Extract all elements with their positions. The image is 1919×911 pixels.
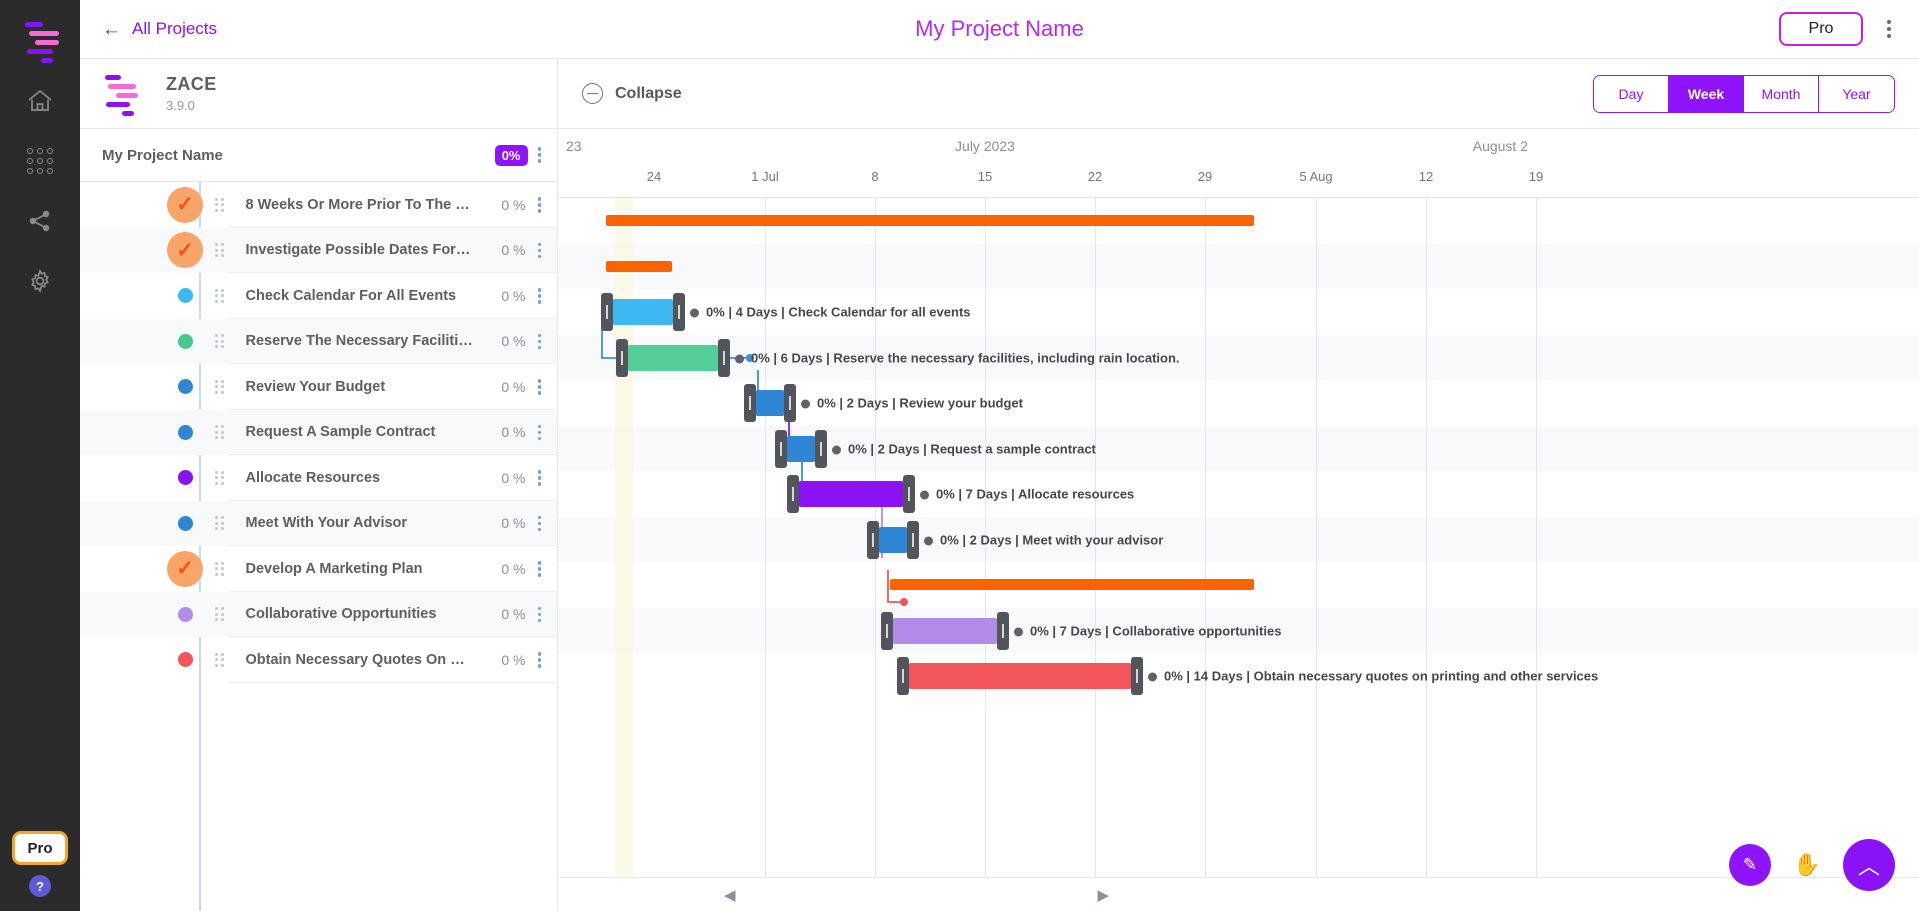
task-progress-label: 0 %	[501, 333, 525, 349]
task-progress-label: 0 %	[501, 242, 525, 258]
task-row[interactable]: Allocate Resources0 %	[80, 455, 557, 501]
gantt-task-bar[interactable]: 0% | 6 Days | Reserve the necessary faci…	[627, 345, 719, 371]
timeline-day-label: 12	[1419, 169, 1433, 184]
pro-upgrade-button[interactable]: Pro	[1779, 12, 1863, 46]
task-name-label: Develop A Marketing Plan	[246, 561, 474, 577]
task-drag-handle-icon[interactable]	[215, 562, 224, 576]
home-icon[interactable]	[17, 78, 63, 124]
gantt-gridline	[1536, 198, 1537, 911]
task-row-kebab-icon[interactable]	[538, 652, 542, 668]
bar-resize-handle-right[interactable]	[784, 384, 796, 422]
bar-resize-handle-left[interactable]	[897, 657, 909, 695]
task-drag-handle-icon[interactable]	[215, 334, 224, 348]
task-name-label: Allocate Resources	[246, 470, 474, 486]
task-row[interactable]: Obtain Necessary Quotes On Printin...0 %	[80, 637, 557, 683]
bar-resize-handle-right[interactable]	[815, 430, 827, 468]
gantt-toolbar: Collapse DayWeekMonthYear	[558, 59, 1919, 129]
task-name-label: Investigate Possible Dates For The ...	[246, 242, 474, 258]
all-projects-back-link[interactable]: ← All Projects	[102, 19, 217, 39]
scroll-up-fab[interactable]: ︿	[1843, 839, 1895, 891]
bar-label-text: 0% | 2 Days | Meet with your advisor	[940, 532, 1163, 547]
gantt-gridline	[1316, 198, 1317, 911]
timeline-day-label: 8	[871, 169, 878, 184]
timeline-month-label: 23	[566, 138, 582, 154]
gantt-app: Pro ? ← All Projects My Project Name Pro	[0, 0, 1919, 911]
timeline-day-label: 5 Aug	[1299, 169, 1332, 184]
task-row[interactable]: Investigate Possible Dates For The ...0 …	[80, 228, 557, 274]
gantt-task-bar[interactable]: 0% | 2 Days | Request a sample contract	[786, 436, 816, 462]
task-status-dot-icon[interactable]	[178, 516, 193, 531]
task-complete-check-icon[interactable]	[167, 232, 203, 268]
gantt-bar-label: 0% | 2 Days | Review your budget	[801, 396, 1023, 411]
pro-rail-button[interactable]: Pro	[12, 831, 68, 865]
timescale-week-button[interactable]: Week	[1669, 76, 1744, 112]
gantt-summary-bar[interactable]	[606, 261, 672, 272]
collapse-button[interactable]: Collapse	[582, 83, 682, 104]
task-row[interactable]: Develop A Marketing Plan0 %	[80, 546, 557, 592]
timescale-toggle-group[interactable]: DayWeekMonthYear	[1593, 75, 1895, 113]
zace-logo-icon	[102, 73, 146, 115]
gantt-grid[interactable]: 0% | 4 Days | Check Calendar for all eve…	[558, 198, 1919, 911]
gantt-task-bar[interactable]: 0% | 2 Days | Meet with your advisor	[878, 527, 908, 553]
task-row-kebab-icon[interactable]	[538, 425, 542, 441]
task-name-label: Obtain Necessary Quotes On Printin...	[246, 652, 474, 668]
bar-label-text: 0% | 4 Days | Check Calendar for all eve…	[706, 305, 971, 320]
collapse-minus-icon	[582, 83, 603, 104]
bar-resize-handle-right[interactable]	[907, 521, 919, 559]
bar-resize-handle-left[interactable]	[744, 384, 756, 422]
task-row-kebab-icon[interactable]	[538, 243, 542, 259]
gantt-task-bar[interactable]: 0% | 4 Days | Check Calendar for all eve…	[612, 299, 674, 325]
task-status-dot-icon[interactable]	[178, 652, 193, 667]
task-status-dot-icon[interactable]	[178, 470, 193, 485]
task-drag-handle-icon[interactable]	[215, 380, 224, 394]
task-progress-label: 0 %	[501, 197, 525, 213]
bar-resize-handle-right[interactable]	[903, 475, 915, 513]
back-arrow-icon: ←	[102, 20, 121, 39]
bar-resize-handle-right[interactable]	[718, 339, 730, 377]
gantt-row-band	[558, 471, 1919, 517]
timeline-day-label: 1 Jul	[751, 169, 778, 184]
bar-label-text: 0% | 2 Days | Review your budget	[817, 396, 1023, 411]
timescale-year-button[interactable]: Year	[1819, 76, 1894, 112]
timeline-day-label: 15	[978, 169, 992, 184]
task-progress-label: 0 %	[501, 606, 525, 622]
bar-resize-handle-left[interactable]	[787, 475, 799, 513]
apps-grid-dots	[27, 148, 53, 174]
gantt-bar-label: 0% | 2 Days | Meet with your advisor	[924, 532, 1163, 547]
task-row[interactable]: 8 Weeks Or More Prior To The Event0 %	[80, 182, 557, 228]
task-drag-handle-icon[interactable]	[215, 653, 224, 667]
task-panel: ZACE 3.9.0 My Project Name 0% 8 Weeks Or…	[80, 59, 558, 911]
task-drag-handle-icon[interactable]	[215, 425, 224, 439]
task-status-dot-icon[interactable]	[178, 334, 193, 349]
task-name-label: Collaborative Opportunities	[246, 606, 474, 622]
bar-label-text: 0% | 7 Days | Allocate resources	[936, 487, 1134, 502]
bar-label-text: 0% | 14 Days | Obtain necessary quotes o…	[1164, 669, 1598, 684]
project-progress-badge: 0%	[495, 145, 528, 166]
task-drag-handle-icon[interactable]	[215, 243, 224, 257]
apps-grid-icon[interactable]	[17, 138, 63, 184]
gantt-bar-label: 0% | 6 Days | Reserve the necessary faci…	[735, 350, 1180, 365]
task-row[interactable]: Check Calendar For All Events0 %	[80, 273, 557, 319]
task-complete-check-icon[interactable]	[167, 551, 203, 587]
main-area: ← All Projects My Project Name Pro	[80, 0, 1919, 911]
task-row-divider	[228, 682, 557, 683]
task-progress-label: 0 %	[501, 379, 525, 395]
bar-label-bullet-icon	[735, 354, 744, 363]
bar-label-text: 0% | 6 Days | Reserve the necessary faci…	[751, 350, 1180, 365]
task-list[interactable]: 8 Weeks Or More Prior To The Event0 %Inv…	[80, 182, 557, 911]
more-options-kebab-icon[interactable]	[1879, 16, 1899, 42]
project-header: ZACE 3.9.0	[80, 59, 557, 129]
gantt-task-bar[interactable]: 0% | 7 Days | Collaborative opportunitie…	[892, 618, 998, 644]
task-name-label: Reserve The Necessary Facilities, In...	[246, 333, 474, 349]
bar-resize-handle-left[interactable]	[867, 521, 879, 559]
task-name-label: Review Your Budget	[246, 379, 474, 395]
content-body: ZACE 3.9.0 My Project Name 0% 8 Weeks Or…	[80, 59, 1919, 911]
gantt-task-bar[interactable]: 0% | 2 Days | Review your budget	[755, 390, 785, 416]
floating-action-buttons: ✎ ✋ ︿	[1729, 839, 1895, 891]
bar-label-bullet-icon	[832, 445, 841, 454]
task-row[interactable]: Meet With Your Advisor0 %	[80, 501, 557, 547]
task-row-kebab-icon[interactable]	[538, 607, 542, 623]
bar-label-bullet-icon	[920, 491, 929, 500]
collapse-label: Collapse	[615, 85, 682, 103]
task-drag-handle-icon[interactable]	[215, 516, 224, 530]
task-progress-label: 0 %	[501, 424, 525, 440]
gantt-gridline	[1095, 198, 1096, 911]
bar-label-bullet-icon	[690, 309, 699, 318]
share-icon[interactable]	[17, 198, 63, 244]
gantt-bar-label: 0% | 7 Days | Allocate resources	[920, 487, 1134, 502]
top-bar-actions: Pro	[1779, 12, 1899, 46]
gantt-task-bar[interactable]: 0% | 7 Days | Allocate resources	[798, 481, 904, 507]
task-row-kebab-icon[interactable]	[538, 334, 542, 350]
timeline-month-label: August 2	[1473, 138, 1528, 154]
timeline-day-label: 24	[647, 169, 661, 184]
gantt-gridline	[1205, 198, 1206, 911]
bar-resize-handle-left[interactable]	[601, 293, 613, 331]
page-title: My Project Name	[80, 16, 1919, 42]
task-progress-label: 0 %	[501, 470, 525, 486]
bar-resize-handle-right[interactable]	[1131, 657, 1143, 695]
bar-resize-handle-left[interactable]	[616, 339, 628, 377]
project-summary-row[interactable]: My Project Name 0%	[80, 129, 557, 182]
gantt-bar-label: 0% | 7 Days | Collaborative opportunitie…	[1014, 623, 1281, 638]
task-name-label: Check Calendar For All Events	[246, 288, 474, 304]
task-drag-handle-icon[interactable]	[215, 607, 224, 621]
task-status-dot-icon[interactable]	[178, 607, 193, 622]
task-row[interactable]: Collaborative Opportunities0 %	[80, 592, 557, 638]
horizontal-scrollbar[interactable]: ◀ ▶	[558, 877, 1919, 911]
task-row-kebab-icon[interactable]	[538, 516, 542, 532]
bar-label-bullet-icon	[801, 400, 810, 409]
bar-resize-handle-right[interactable]	[673, 293, 685, 331]
task-row-kebab-icon[interactable]	[538, 470, 542, 486]
task-name-label: Request A Sample Contract	[246, 424, 474, 440]
scroll-right-arrow-icon[interactable]: ▶	[1092, 886, 1116, 904]
left-nav-rail: Pro ?	[0, 0, 80, 911]
task-drag-handle-icon[interactable]	[215, 198, 224, 212]
timescale-day-button[interactable]: Day	[1594, 76, 1669, 112]
bar-resize-handle-right[interactable]	[997, 612, 1009, 650]
task-row[interactable]: Reserve The Necessary Facilities, In...0…	[80, 319, 557, 365]
gantt-gridline	[985, 198, 986, 911]
timeline-day-label: 29	[1198, 169, 1212, 184]
task-row-kebab-icon[interactable]	[538, 197, 542, 213]
gantt-bar-label: 0% | 14 Days | Obtain necessary quotes o…	[1148, 669, 1598, 684]
task-progress-label: 0 %	[501, 288, 525, 304]
task-progress-label: 0 %	[501, 515, 525, 531]
product-version: 3.9.0	[166, 98, 217, 113]
gantt-row-band	[558, 426, 1919, 472]
task-name-label: Meet With Your Advisor	[246, 515, 474, 531]
gantt-task-bar[interactable]: 0% | 14 Days | Obtain necessary quotes o…	[908, 663, 1132, 689]
task-status-dot-icon[interactable]	[178, 288, 193, 303]
gantt-summary-bar[interactable]	[606, 215, 1254, 226]
timeline-day-label: 19	[1529, 169, 1543, 184]
bar-label-bullet-icon	[1148, 673, 1157, 682]
task-progress-label: 0 %	[501, 652, 525, 668]
timeline-month-label: July 2023	[955, 138, 1015, 154]
task-row-kebab-icon[interactable]	[538, 561, 542, 577]
gantt-summary-bar[interactable]	[890, 579, 1254, 590]
task-drag-handle-icon[interactable]	[215, 289, 224, 303]
task-status-dot-icon[interactable]	[178, 425, 193, 440]
task-progress-label: 0 %	[501, 561, 525, 577]
gantt-row-band	[558, 517, 1919, 563]
project-name-label: My Project Name	[102, 147, 495, 164]
app-logo-icon[interactable]	[17, 20, 63, 64]
bar-label-text: 0% | 7 Days | Collaborative opportunitie…	[1030, 623, 1281, 638]
pan-hand-fab[interactable]: ✋	[1789, 847, 1825, 883]
task-row-kebab-icon[interactable]	[538, 288, 542, 304]
bar-resize-handle-left[interactable]	[881, 612, 893, 650]
task-drag-handle-icon[interactable]	[215, 471, 224, 485]
bar-label-text: 0% | 2 Days | Request a sample contract	[848, 441, 1096, 456]
top-bar: ← All Projects My Project Name Pro	[80, 0, 1919, 59]
product-name: ZACE	[166, 74, 217, 95]
timescale-month-button[interactable]: Month	[1744, 76, 1819, 112]
bar-label-bullet-icon	[924, 536, 933, 545]
task-row[interactable]: Request A Sample Contract0 %	[80, 410, 557, 456]
gantt-bar-label: 0% | 4 Days | Check Calendar for all eve…	[690, 305, 971, 320]
task-status-dot-icon[interactable]	[178, 379, 193, 394]
task-row[interactable]: Review Your Budget0 %	[80, 364, 557, 410]
task-name-label: 8 Weeks Or More Prior To The Event	[246, 197, 474, 213]
help-icon[interactable]: ?	[29, 875, 51, 897]
scroll-left-arrow-icon[interactable]: ◀	[718, 886, 742, 904]
edit-fab[interactable]: ✎	[1729, 844, 1771, 886]
task-complete-check-icon[interactable]	[167, 187, 203, 223]
bar-label-bullet-icon	[1014, 627, 1023, 636]
task-row-kebab-icon[interactable]	[538, 379, 542, 395]
bar-resize-handle-left[interactable]	[775, 430, 787, 468]
timeline-header: 23July 2023August 2241 Jul81522295 Aug12…	[558, 129, 1919, 198]
settings-gear-icon[interactable]	[17, 258, 63, 304]
gantt-bar-label: 0% | 2 Days | Request a sample contract	[832, 441, 1096, 456]
timeline-day-label: 22	[1088, 169, 1102, 184]
gantt-gridline	[1426, 198, 1427, 911]
project-row-kebab-icon[interactable]	[538, 147, 542, 163]
gantt-row-band	[558, 244, 1919, 290]
gantt-panel: Collapse DayWeekMonthYear 23July 2023Aug…	[558, 59, 1919, 911]
all-projects-label: All Projects	[132, 19, 217, 39]
